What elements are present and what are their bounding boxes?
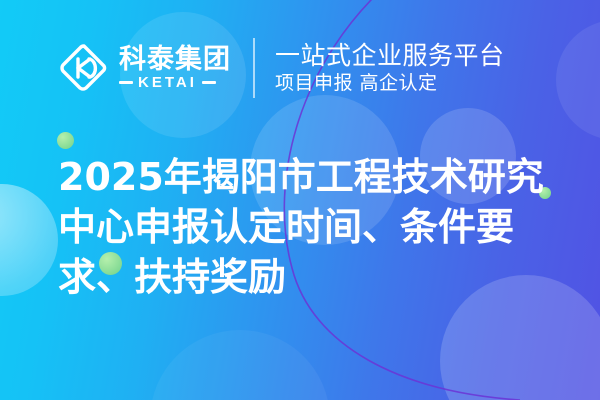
ketai-diamond-kd-monogram-icon (58, 42, 110, 94)
brand-name-en-row: KETAI (119, 75, 231, 90)
brand-wordmark: 科泰集团 KETAI (119, 46, 231, 90)
brand-name-en: KETAI (138, 75, 197, 90)
tagline-sub: 项目申报 高企认定 (275, 73, 505, 94)
brand-name-cn: 科泰集团 (119, 46, 231, 73)
page-title: 2025年揭阳市工程技术研究中心申报认定时间、条件要求、扶持奖励 (58, 152, 558, 302)
promo-banner: 科泰集团 KETAI 一站式企业服务平台 项目申报 高企认定 2025年揭阳市工… (0, 0, 600, 400)
wordmark-rule-left (119, 81, 133, 84)
brand-tagline: 一站式企业服务平台 项目申报 高企认定 (275, 42, 505, 94)
wordmark-rule-right (202, 81, 216, 84)
brand-logo: 科泰集团 KETAI (58, 42, 231, 94)
tagline-main: 一站式企业服务平台 (275, 42, 505, 70)
banner-header: 科泰集团 KETAI 一站式企业服务平台 项目申报 高企认定 (58, 38, 505, 98)
header-divider (253, 38, 255, 98)
